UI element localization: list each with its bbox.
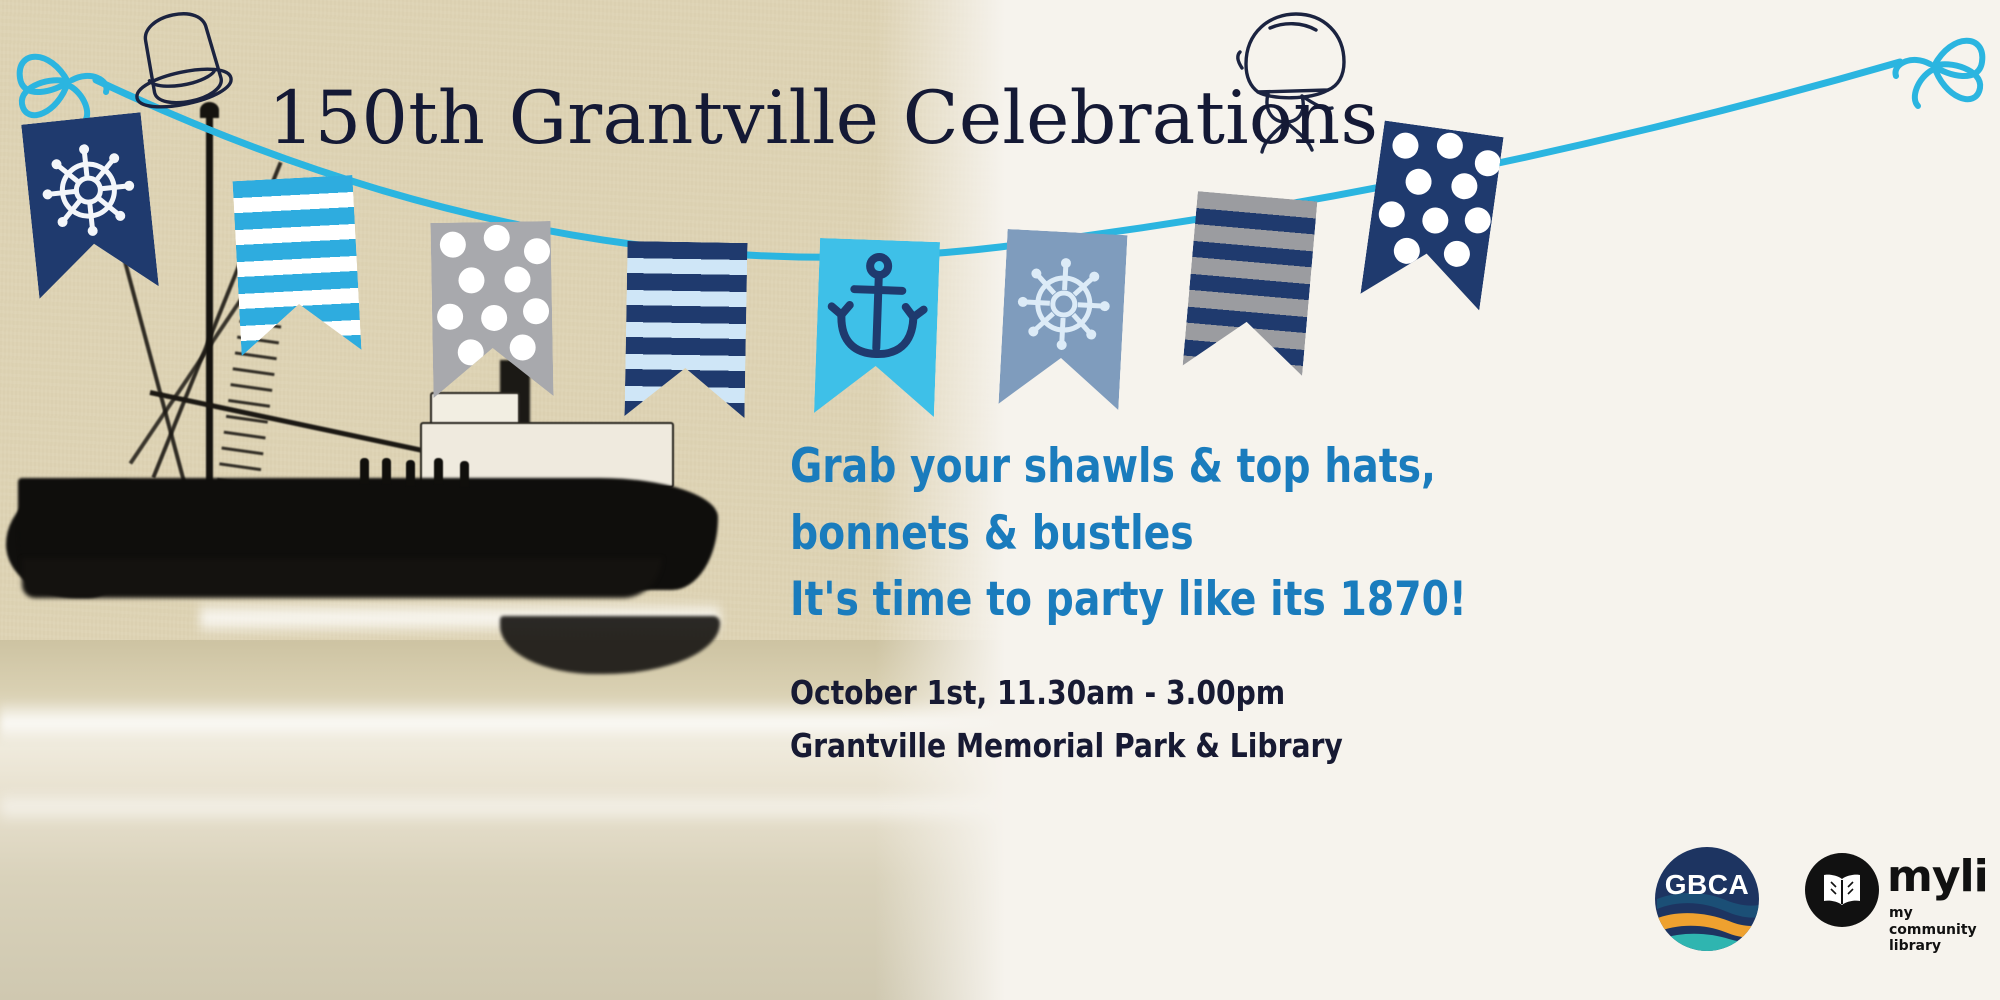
myli-tagline-line-3: library (1889, 938, 1977, 955)
crew-figure (406, 460, 415, 486)
crew-figure (360, 458, 369, 484)
flag-cyan-anchor (814, 238, 940, 417)
poster-banner: 150th Grantville Celebrations Grab your … (0, 0, 2000, 1000)
page-title: 150th Grantville Celebrations (268, 76, 1368, 161)
flag-steelblue-ships-wheel (999, 229, 1128, 410)
polka-dot-pattern (1360, 121, 1503, 311)
tagline-line-2: bonnets & bustles (790, 501, 1441, 568)
crew-figures (360, 458, 480, 486)
crew-figure (382, 458, 391, 484)
gbca-wordmark: GBCA (1655, 869, 1759, 901)
crew-figure (434, 458, 443, 484)
tagline-block: Grab your shawls & top hats, bonnets & b… (790, 434, 1441, 634)
myli-tagline-line-2: community (1889, 922, 1977, 939)
myli-tagline-line-1: my (1889, 905, 1977, 922)
bunting-flag-row (0, 0, 2000, 430)
gbca-logo: GBCA (1655, 847, 1759, 951)
surf-line-secondary (0, 790, 1005, 824)
myli-tagline: my community library (1889, 905, 1977, 955)
bunting-garland (0, 0, 2000, 430)
event-details-block: October 1st, 11.30am - 3.00pm Grantville… (790, 666, 1398, 773)
myli-logo: myli my community library (1805, 849, 1985, 953)
flag-grey-polka-dots (430, 221, 553, 398)
anchor-icon (814, 238, 940, 417)
sponsor-logos: GBCA myli my community library (1645, 845, 1985, 957)
myli-badge (1805, 853, 1879, 927)
tagline-line-1: Grab your shawls & top hats, (790, 434, 1441, 501)
flag-navy-ships-wheel (21, 112, 159, 299)
event-venue: Grantville Memorial Park & Library (790, 719, 1398, 772)
ship-hull-lower (22, 558, 662, 598)
crew-figure (460, 461, 469, 487)
flag-navy-polka-dots (1360, 121, 1503, 311)
open-book-icon (1822, 873, 1862, 907)
ships-wheel-icon (999, 229, 1128, 410)
flag-stripes-grey-navy (1183, 191, 1318, 376)
event-datetime: October 1st, 11.30am - 3.00pm (790, 666, 1398, 719)
tagline-line-3: It's time to party like its 1870! (790, 567, 1441, 634)
ships-wheel-icon (21, 112, 159, 299)
flag-stripes-navy (624, 241, 747, 418)
flag-stripes-cyan (233, 175, 362, 356)
polka-dot-pattern (430, 221, 553, 398)
myli-wordmark: myli (1887, 855, 1988, 899)
